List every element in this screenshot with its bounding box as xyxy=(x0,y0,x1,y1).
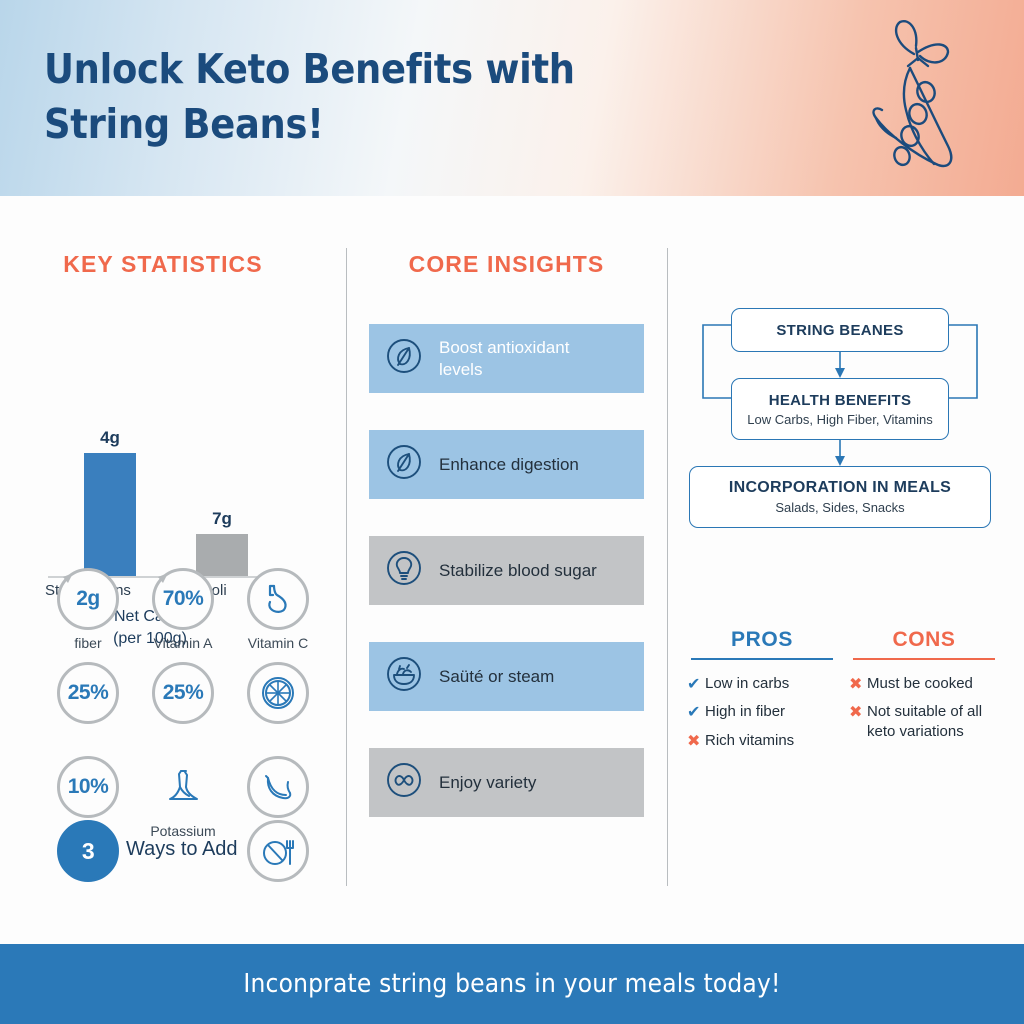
salad-bowl-icon xyxy=(383,653,425,700)
insight-text: Stabilize blood sugar xyxy=(439,560,597,581)
stat-banana[interactable] xyxy=(230,756,326,818)
ways-to-add-label: Ways to Add xyxy=(126,838,238,861)
orange-slice-icon xyxy=(259,674,297,712)
cons-rule xyxy=(853,658,995,660)
divider-right xyxy=(667,248,668,886)
ways-count: 3 xyxy=(82,838,94,865)
footer-banner: Inconprate string beans in your meals to… xyxy=(0,944,1024,1024)
flow-box-incorporation-in-meals[interactable]: INCORPORATION IN MEALS Salads, Sides, Sn… xyxy=(689,466,991,528)
stomach-icon xyxy=(261,582,295,616)
section-title-core-insights: CORE INSIGHTS xyxy=(346,251,667,278)
insight-text: Enhance digestion xyxy=(439,454,579,475)
pea-pod-icon xyxy=(852,14,984,180)
stat-percent-10[interactable]: 10% xyxy=(40,756,136,818)
insight-item-boost-antioxidant[interactable]: Boost antioxidant levels xyxy=(369,324,644,393)
stat-orange-slice[interactable] xyxy=(230,662,326,724)
section-title-key-statistics: KEY STATISTICS xyxy=(0,251,336,278)
ways-icon-cell xyxy=(230,820,326,882)
infinity-icon xyxy=(383,759,425,806)
stat-ring-25b: 25% xyxy=(152,662,214,724)
flow-box-health-benefits[interactable]: HEALTH BENEFITS Low Carbs, High Fiber, V… xyxy=(731,378,949,440)
cons-item-text: Must be cooked xyxy=(867,674,973,694)
flow-box-subtitle: Low Carbs, High Fiber, Vitamins xyxy=(732,412,948,427)
bar-string-beans: 4g xyxy=(84,453,136,576)
net-carbs-bar-chart: 4g 7g String Beans Broccoli Net Carbs (p… xyxy=(0,306,300,506)
stat-vitamin-c[interactable]: Vitamin C xyxy=(230,568,326,651)
insight-text: Enjoy variety xyxy=(439,772,536,793)
stat-ring-orange xyxy=(247,662,309,724)
flow-box-title: INCORPORATION IN MEALS xyxy=(690,479,990,497)
arrowhead-icon xyxy=(835,368,845,378)
insight-item-enhance-digestion[interactable]: Enhance digestion xyxy=(369,430,644,499)
cross-icon: ✖ xyxy=(687,731,705,752)
cons-item: ✖ Not suitable of all keto variations xyxy=(849,702,999,742)
banana-icon xyxy=(259,768,297,806)
stat-ring-vitamin-c xyxy=(247,568,309,630)
flowchart: STRING BEANES HEALTH BENEFITS Low Carbs,… xyxy=(685,308,1005,538)
pros-item: ✖ Rich vitamins xyxy=(687,731,837,752)
header-banner: Unlock Keto Benefits with String Beans! xyxy=(0,0,1024,196)
flow-box-string-beanes[interactable]: STRING BEANES xyxy=(731,308,949,352)
cons-heading: CONS xyxy=(849,628,999,652)
check-icon: ✔ xyxy=(687,674,705,695)
cons-column: CONS ✖ Must be cooked ✖ Not suitable of … xyxy=(849,628,999,749)
flow-box-title: HEALTH BENEFITS xyxy=(732,392,948,409)
pros-item-text: High in fiber xyxy=(705,702,785,722)
flow-box-title: STRING BEANES xyxy=(732,322,948,339)
cross-icon: ✖ xyxy=(849,702,867,723)
arrowhead-icon xyxy=(835,456,845,466)
pros-heading: PROS xyxy=(687,628,837,652)
pros-item: ✔ High in fiber xyxy=(687,702,837,723)
pros-column: PROS ✔ Low in carbs ✔ High in fiber ✖ Ri… xyxy=(687,628,837,759)
stat-label-fiber: fiber xyxy=(40,635,136,651)
insight-item-enjoy-variety[interactable]: Enjoy variety xyxy=(369,748,644,817)
banana-peel-icon xyxy=(161,765,205,809)
cycle-arrow-icon xyxy=(157,572,169,584)
ways-ring: 3 xyxy=(57,820,119,882)
cycle-arrow-icon xyxy=(62,572,74,584)
stat-label-vitamin-c: Vitamin C xyxy=(230,635,326,651)
cross-icon: ✖ xyxy=(849,674,867,695)
pros-item-text: Low in carbs xyxy=(705,674,789,694)
ways-count-badge: 3 xyxy=(40,820,136,882)
pros-item: ✔ Low in carbs xyxy=(687,674,837,695)
insight-list: Boost antioxidant levels Enhance digesti… xyxy=(369,324,644,854)
stat-percent-25-a[interactable]: 25% xyxy=(40,662,136,724)
stat-vitamin-a[interactable]: 70% Vitamin A xyxy=(135,568,231,651)
stat-icon-potassium xyxy=(152,756,214,818)
stat-ring-banana xyxy=(247,756,309,818)
title-line-2: String Beans! xyxy=(44,97,664,152)
flow-box-subtitle: Salads, Sides, Snacks xyxy=(690,500,990,515)
stat-ring-10: 10% xyxy=(57,756,119,818)
stat-value-25b: 25% xyxy=(163,681,204,705)
stat-ring-vitamin-a: 70% xyxy=(152,568,214,630)
divider-left xyxy=(346,248,347,886)
stat-label-vitamin-a: Vitamin A xyxy=(135,635,231,651)
lightbulb-icon xyxy=(383,547,425,594)
insight-text: Saüté or steam xyxy=(439,666,554,687)
leaf-icon xyxy=(383,441,425,488)
stat-ring-25a: 25% xyxy=(57,662,119,724)
stat-fiber[interactable]: 2g fiber xyxy=(40,568,136,651)
main-content: KEY STATISTICS 4g 7g String Beans xyxy=(0,196,1024,944)
page-title: Unlock Keto Benefits with String Beans! xyxy=(44,42,664,151)
bar-value-string-beans: 4g xyxy=(100,428,120,448)
plate-fork-knife-icon xyxy=(259,832,297,870)
cons-item: ✖ Must be cooked xyxy=(849,674,999,695)
insight-item-stabilize-blood-sugar[interactable]: Stabilize blood sugar xyxy=(369,536,644,605)
leaf-icon xyxy=(383,335,425,382)
stat-ring-fiber: 2g xyxy=(57,568,119,630)
stat-value-10: 10% xyxy=(68,775,109,799)
stat-percent-25-b[interactable]: 25% xyxy=(135,662,231,724)
stat-value-fiber: 2g xyxy=(76,587,100,611)
insight-item-saute-or-steam[interactable]: Saüté or steam xyxy=(369,642,644,711)
stat-value-25a: 25% xyxy=(68,681,109,705)
ways-to-add-row[interactable]: 3 Ways to Add xyxy=(40,820,330,884)
title-line-1: Unlock Keto Benefits with xyxy=(44,42,664,97)
ways-ring-icon xyxy=(247,820,309,882)
cons-item-text: Not suitable of all keto variations xyxy=(867,702,982,742)
infographic-page: Unlock Keto Benefits with String Beans! xyxy=(0,0,1024,1024)
footer-text: Inconprate string beans in your meals to… xyxy=(243,969,780,999)
bar-value-broccoli: 7g xyxy=(212,509,232,529)
check-icon: ✔ xyxy=(687,702,705,723)
pros-rule xyxy=(691,658,833,660)
stat-value-vitamin-a: 70% xyxy=(163,587,204,611)
insight-text: Boost antioxidant levels xyxy=(439,337,569,380)
pros-item-text: Rich vitamins xyxy=(705,731,794,751)
